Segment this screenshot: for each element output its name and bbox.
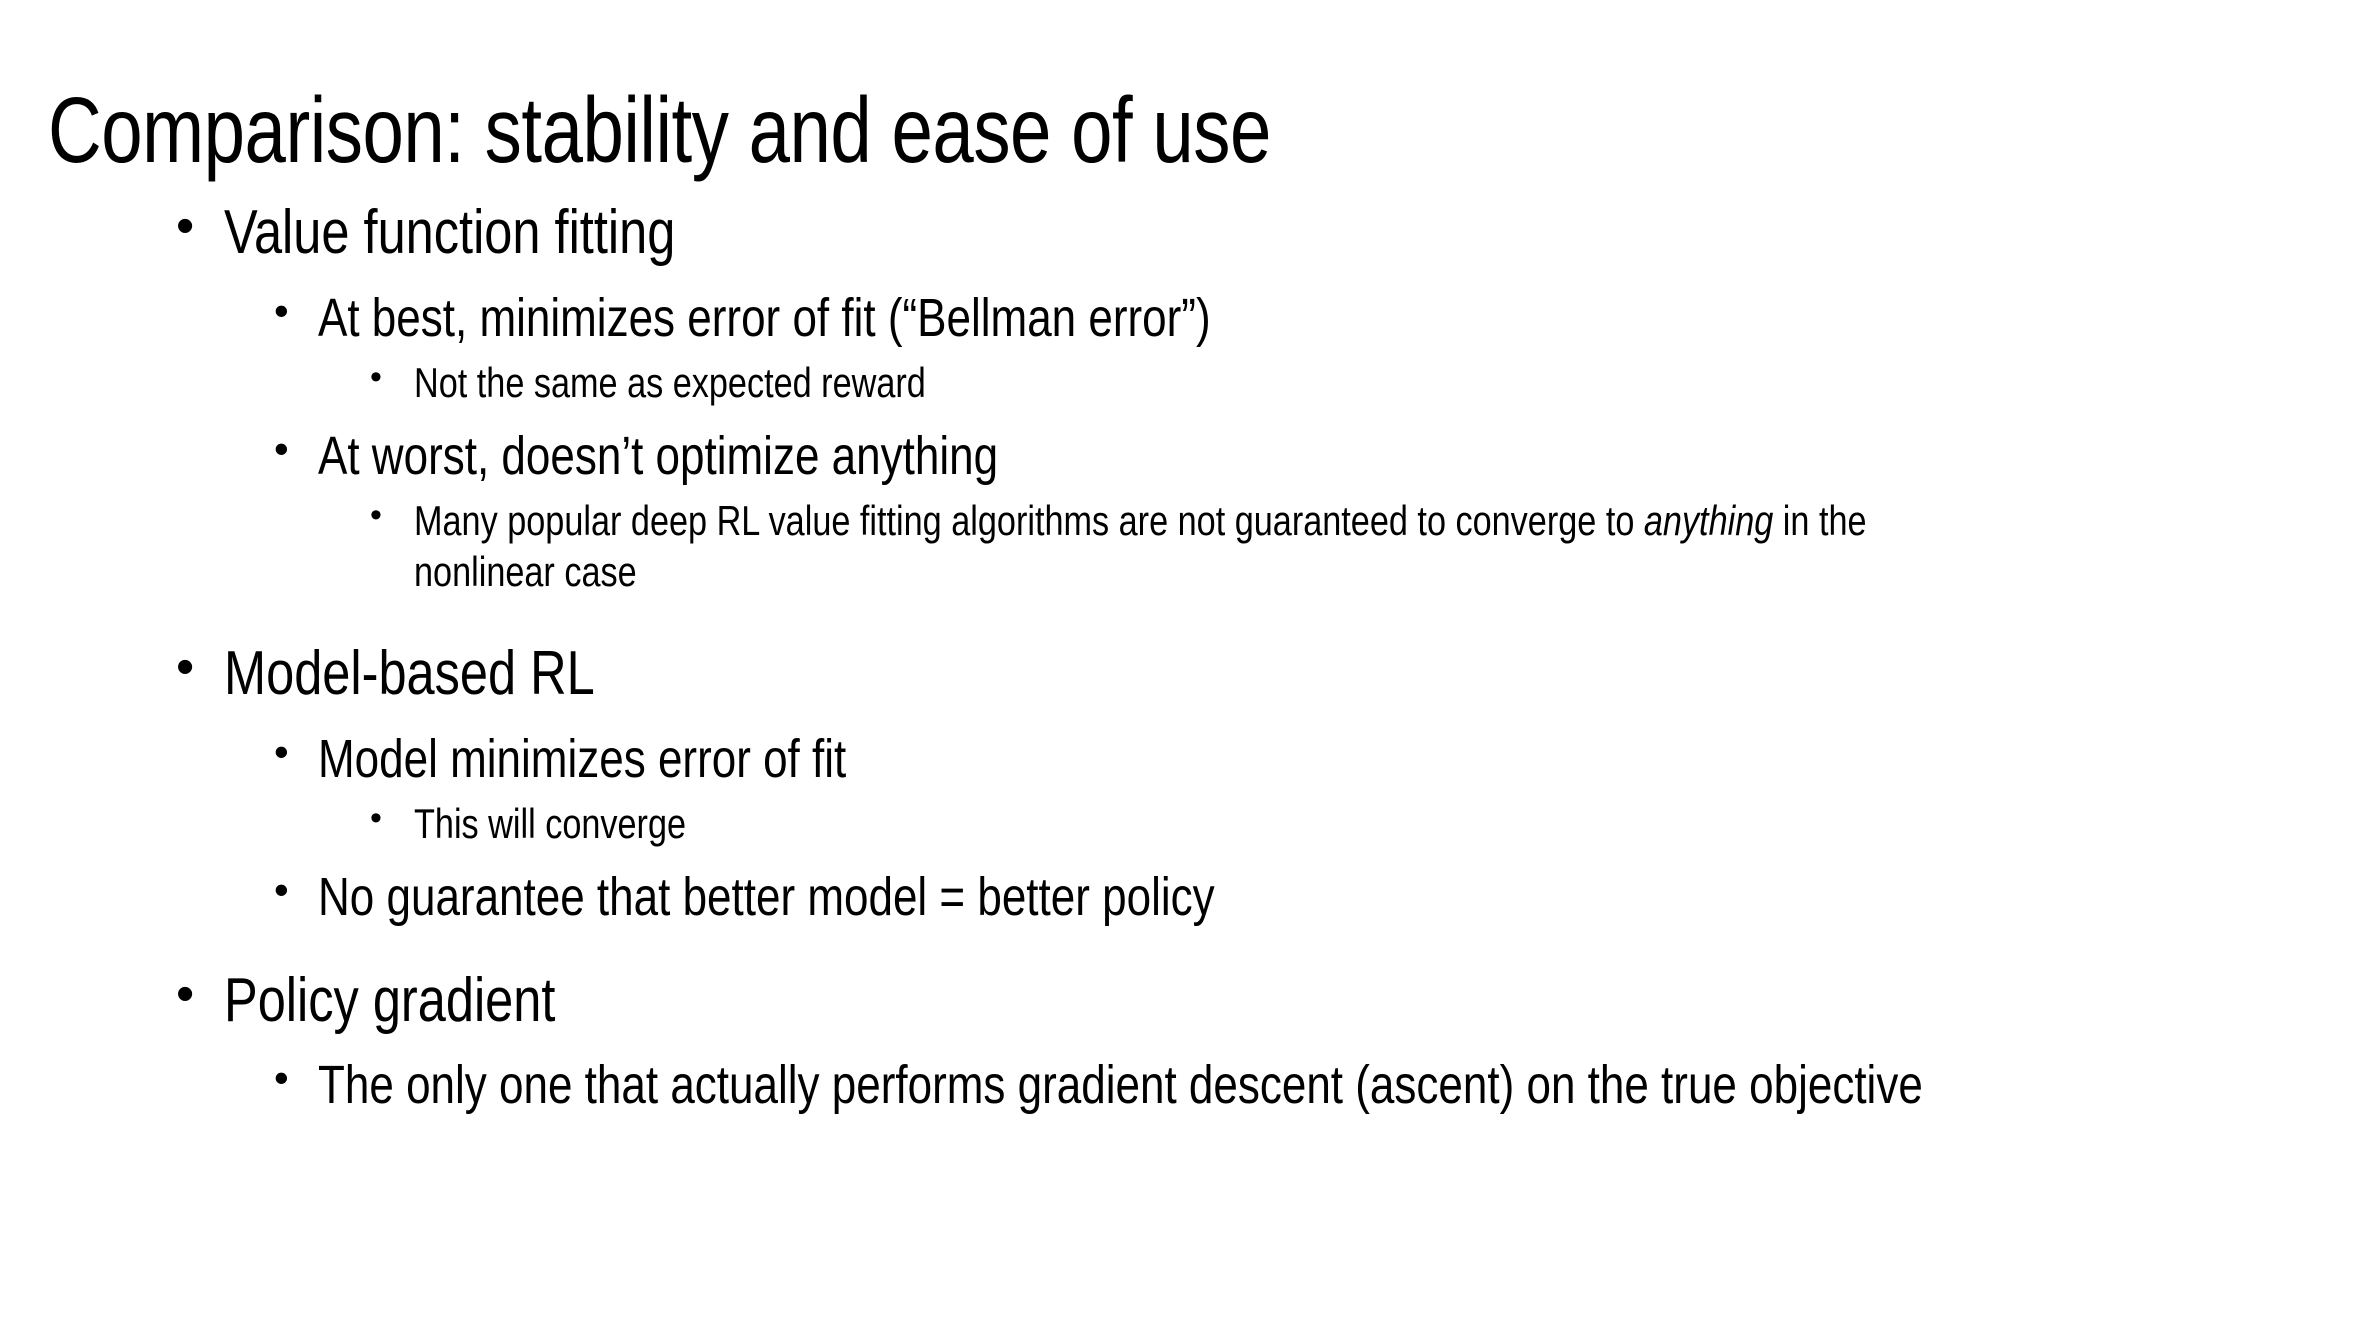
list-item-label: Value function fitting [224, 196, 2319, 270]
bullet-marker-icon: • [274, 286, 289, 336]
list-item: • Policy gradient [0, 964, 2368, 1038]
list-item-label: Policy gradient [224, 964, 2319, 1038]
list-item: • At worst, doesn’t optimize anything [0, 424, 2368, 489]
list-item-label: No guarantee that better model = better … [318, 865, 2331, 930]
bullet-marker-icon: • [176, 637, 194, 699]
list-item: • Value function fitting [0, 196, 2368, 270]
list-item-label: This will converge [414, 798, 2011, 849]
bullet-marker-icon: • [274, 727, 289, 777]
bullet-marker-icon: • [274, 1053, 289, 1103]
list-item: • At best, minimizes error of fit (“Bell… [0, 286, 2368, 351]
bullet-marker-icon: • [370, 357, 382, 398]
list-item-label: Model-based RL [224, 637, 2319, 711]
list-item: • No guarantee that better model = bette… [0, 865, 2368, 930]
page-title: Comparison: stability and ease of use [48, 80, 1856, 180]
list-item: • Model minimizes error of fit [0, 727, 2368, 792]
list-item-label: Model minimizes error of fit [318, 727, 2331, 792]
bullet-marker-icon: • [176, 196, 194, 258]
list-item-label: At worst, doesn’t optimize anything [318, 424, 2331, 489]
list-item-label: The only one that actually performs grad… [318, 1053, 2331, 1118]
bullet-list: • Value function fitting • At best, mini… [0, 196, 2368, 1118]
text-run-italic: anything [1644, 497, 1773, 544]
bullet-marker-icon: • [370, 798, 382, 839]
list-item: • Not the same as expected reward [0, 357, 2368, 408]
list-item: • Model-based RL [0, 637, 2368, 711]
list-item-label: Not the same as expected reward [414, 357, 2011, 408]
list-item-label: At best, minimizes error of fit (“Bellma… [318, 286, 2331, 351]
bullet-marker-icon: • [274, 865, 289, 915]
bullet-marker-icon: • [274, 424, 289, 474]
text-run-plain: Many popular deep RL value fitting algor… [414, 497, 1644, 544]
slide-canvas: Comparison: stability and ease of use • … [0, 0, 2368, 1338]
list-item: • Many popular deep RL value fitting alg… [0, 495, 2368, 597]
bullet-marker-icon: • [176, 964, 194, 1026]
bullet-marker-icon: • [370, 495, 382, 536]
list-item-label-rich: Many popular deep RL value fitting algor… [414, 495, 2011, 597]
list-item: • This will converge [0, 798, 2368, 849]
list-item: • The only one that actually performs gr… [0, 1053, 2368, 1118]
